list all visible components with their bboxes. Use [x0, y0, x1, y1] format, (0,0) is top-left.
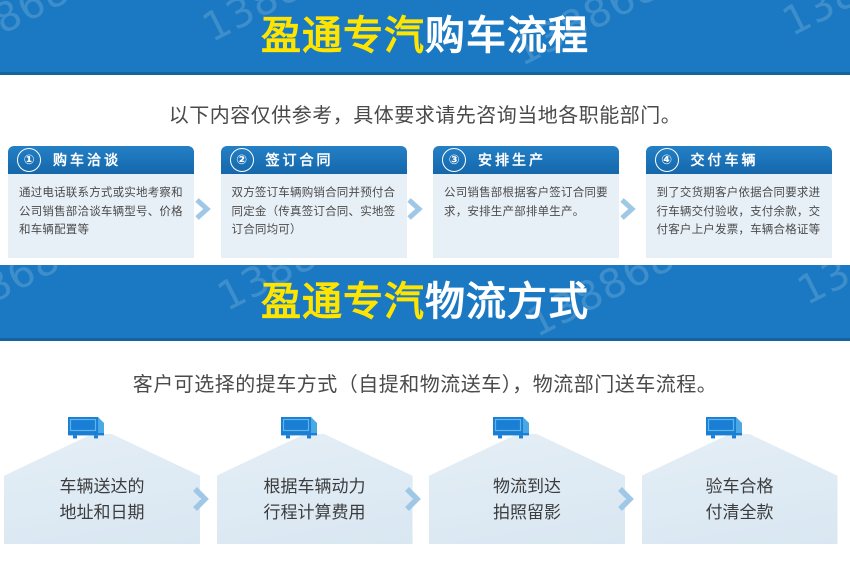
step-header: ④ 交付车辆: [646, 146, 832, 174]
logistics-banner: 13886852428 13886852428 13886852428 1388…: [0, 265, 850, 341]
logistics-step-text: 验车合格 付清全款: [642, 434, 838, 544]
promo-page: 13886852428 13886852428 13886852428 1388…: [0, 0, 850, 564]
logistics-step-line2: 行程计算费用: [264, 500, 366, 526]
step-header: ② 签订合同: [221, 146, 407, 174]
step-header: ③ 安排生产: [433, 146, 619, 174]
watermark-text: 13886852428: [0, 0, 196, 75]
truck-icon: [66, 414, 114, 444]
step-title: 签订合同: [266, 150, 334, 170]
watermark-text: 13886852428: [0, 265, 186, 341]
purchase-step-2: ② 签订合同 双方签订车辆购销合同并预付合同定金（传真签订合同、实地签订合同均可…: [213, 146, 426, 264]
logistics-step-line2: 拍照留影: [493, 500, 561, 526]
step-number-badge: ③: [442, 148, 466, 172]
purchase-banner-title: 盈通专汽购车流程: [261, 16, 589, 56]
logistics-step-3: 物流到达 拍照留影: [425, 409, 638, 544]
logistics-step-text: 车辆送达的 地址和日期: [4, 434, 200, 544]
logistics-subtitle: 客户可选择的提车方式（自提和物流送车），物流部门送车流程。: [0, 341, 850, 409]
step-body-text: 公司销售部根据客户签订合同要求，安排生产部排单生产。: [433, 174, 619, 258]
watermark-text: 13886852428: [790, 265, 850, 315]
truck-icon: [279, 414, 327, 444]
purchase-step-4: ④ 交付车辆 到了交货期客户依据合同要求进行车辆交付验收，支付余款，交付客户上户…: [638, 146, 850, 264]
step-body-text: 双方签订车辆购销合同并预付合同定金（传真签订合同、实地签订合同均可）: [221, 174, 407, 258]
purchase-subtitle: 以下内容仅供参考，具体要求请先咨询当地各职能部门。: [0, 75, 850, 140]
step-header: ① 购车洽谈: [8, 146, 194, 174]
step-title: 安排生产: [478, 150, 546, 170]
logistics-step-text: 根据车辆动力 行程计算费用: [217, 434, 413, 544]
logistics-step-4: 验车合格 付清全款: [638, 409, 850, 544]
step-number-badge: ②: [230, 148, 254, 172]
brand-name: 盈通专汽: [261, 279, 425, 325]
purchase-banner: 13886852428 13886852428 13886852428 1388…: [0, 0, 850, 75]
logistics-step-line1: 车辆送达的: [60, 474, 145, 500]
step-body-text: 到了交货期客户依据合同要求进行车辆交付验收，支付余款，交付客户上户发票，车辆合格…: [646, 174, 832, 258]
purchase-banner-suffix: 购车流程: [425, 13, 589, 59]
logistics-step-line2: 付清全款: [706, 500, 774, 526]
chevron-right-icon: [194, 198, 211, 220]
step-number-badge: ④: [655, 148, 679, 172]
chevron-right-icon: [404, 487, 422, 511]
truck-icon: [491, 414, 539, 444]
logistics-step-line1: 物流到达: [493, 474, 561, 500]
logistics-steps-row: 车辆送达的 地址和日期 根据车辆动力 行程计算费用: [0, 409, 850, 544]
logistics-banner-suffix: 物流方式: [425, 279, 589, 325]
logistics-step-line1: 根据车辆动力: [264, 474, 366, 500]
brand-name: 盈通专汽: [261, 13, 425, 59]
purchase-step-1: ① 购车洽谈 通过电话联系方式或实地考察和公司销售部洽谈车辆型号、价格和车辆配置…: [0, 146, 213, 264]
logistics-step-line1: 验车合格: [706, 474, 774, 500]
logistics-step-line2: 地址和日期: [60, 500, 145, 526]
logistics-banner-title: 盈通专汽物流方式: [261, 282, 589, 322]
chevron-right-icon: [192, 487, 210, 511]
chevron-right-icon: [406, 198, 423, 220]
chevron-right-icon: [619, 198, 636, 220]
logistics-step-1: 车辆送达的 地址和日期: [0, 409, 213, 544]
truck-icon: [704, 414, 752, 444]
logistics-step-text: 物流到达 拍照留影: [429, 434, 625, 544]
step-number-badge: ①: [17, 148, 41, 172]
purchase-steps-row: ① 购车洽谈 通过电话联系方式或实地考察和公司销售部洽谈车辆型号、价格和车辆配置…: [0, 140, 850, 265]
logistics-step-2: 根据车辆动力 行程计算费用: [213, 409, 426, 544]
watermark-text: 13886852428: [775, 0, 850, 46]
chevron-right-icon: [617, 487, 635, 511]
step-title: 购车洽谈: [53, 150, 121, 170]
purchase-step-3: ③ 安排生产 公司销售部根据客户签订合同要求，安排生产部排单生产。: [425, 146, 638, 264]
step-body-text: 通过电话联系方式或实地考察和公司销售部洽谈车辆型号、价格和车辆配置等: [8, 174, 194, 258]
step-title: 交付车辆: [691, 150, 759, 170]
